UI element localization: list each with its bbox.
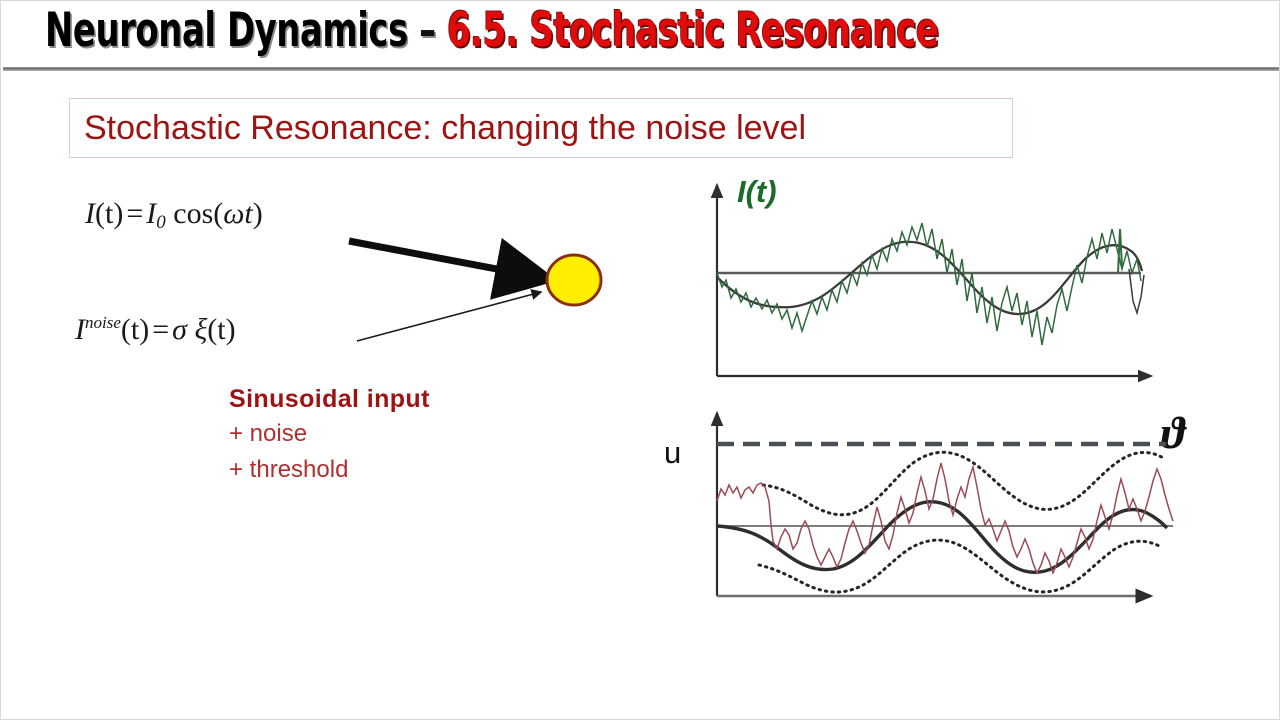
eq-noise-equals: = [149,313,172,346]
header-divider [3,67,1279,71]
caption-title: Sinusoidal input [229,383,559,416]
bottom-plot [717,413,1173,596]
eq-noise-superscript: noise [85,313,121,332]
bottom-plot-ylabel: u [664,435,681,471]
subtitle-text: Stochastic Resonance: changing the noise… [84,106,806,150]
eq-input-subscript: 0 [156,212,166,233]
eq-input-cos: cos( [173,197,223,230]
slide-header: Neuronal Dynamics – 6.5. Stochastic Reso… [1,1,1280,69]
top-plot-signal-curve [717,242,1142,314]
eq-input-time: t [244,197,252,230]
eq-noise-arg: (t) [207,313,235,346]
neuron-circle-icon [547,255,601,305]
top-plot-tail [1129,269,1144,313]
slide-canvas: Neuronal Dynamics – 6.5. Stochastic Reso… [0,0,1280,720]
eq-input-omega: ω [223,197,244,230]
caption-block: Sinusoidal input + noise + threshold [229,383,559,488]
thin-arrow-icon [357,292,541,341]
eq-input-lhs-arg: (t) [95,197,123,230]
equation-noise-input: Inoise(t)=σ ξ(t) [75,313,236,347]
top-plot-spike [1118,229,1122,273]
eq-noise-lhs-symbol: I [75,313,85,346]
eq-input-equals: = [123,197,146,230]
eq-noise-xi: ξ [194,313,207,346]
title-black-part: Neuronal Dynamics [45,3,408,58]
bottom-plot-noise-trace [717,463,1173,573]
subtitle-box: Stochastic Resonance: changing the noise… [69,98,1013,158]
eq-noise-lhs-arg: (t) [121,313,149,346]
eq-input-close-paren: ) [253,197,263,230]
top-plot-noise-trace [717,223,1141,345]
bottom-plot-mean-curve [717,502,1167,573]
eq-input-rhs-symbol: I [146,197,156,230]
title-dash: – [408,3,447,58]
threshold-symbol-label: ϑ [1161,406,1185,459]
eq-input-lhs-symbol: I [85,197,95,230]
eq-noise-sigma: σ [172,313,187,346]
bottom-plot-upper-envelope [763,452,1165,515]
caption-line-threshold: + threshold [229,452,559,488]
top-plot [717,185,1151,376]
equation-sinusoidal-input: I(t)=I0 cos(ωt) [85,197,263,234]
page-title: Neuronal Dynamics – 6.5. Stochastic Reso… [45,3,938,59]
top-plot-ylabel: I(t) [737,174,777,210]
thick-arrow-icon [349,241,544,278]
title-red-part: 6.5. Stochastic Resonance [447,3,938,58]
caption-line-noise: + noise [229,416,559,452]
bottom-plot-lower-envelope [759,540,1161,592]
